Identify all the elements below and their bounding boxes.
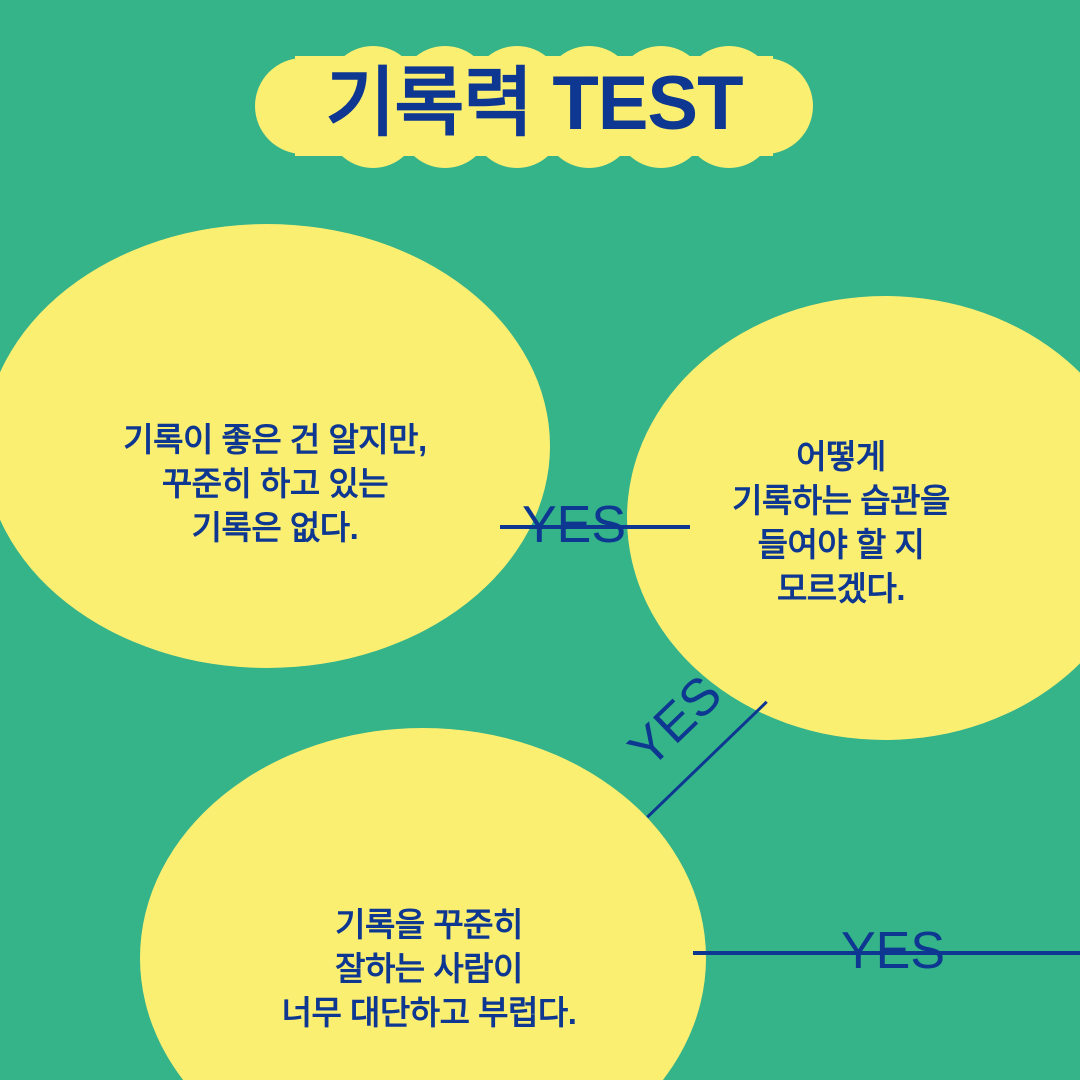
title-cloud-shape: 기록력 TEST [255, 36, 813, 176]
connector-3-label: YES [841, 925, 945, 977]
poster-canvas: 기록력 TEST 기록이 좋은 건 알지만, 꾸준히 하고 있는 기록은 없다.… [0, 0, 1080, 1080]
connector-1: YES [500, 495, 690, 565]
answer-bubble-1[interactable]: 기록이 좋은 건 알지만, 꾸준히 하고 있는 기록은 없다. [0, 224, 550, 668]
connector-3: YES [693, 920, 1080, 990]
answer-bubble-3-text: 기록을 꾸준히 잘하는 사람이 너무 대단하고 부럽다. [282, 903, 577, 1036]
answer-bubble-1-text: 기록이 좋은 건 알지만, 꾸준히 하고 있는 기록은 없다. [123, 418, 426, 551]
connector-2: YES [630, 690, 780, 830]
connector-1-label: YES [522, 499, 626, 551]
answer-bubble-2-text: 어떻게 기록하는 습관을 들여야 할 지 모르겠다. [732, 435, 950, 612]
page-title: 기록력 TEST [255, 36, 813, 176]
answer-bubble-3[interactable]: 기록을 꾸준히 잘하는 사람이 너무 대단하고 부럽다. [140, 728, 706, 1080]
